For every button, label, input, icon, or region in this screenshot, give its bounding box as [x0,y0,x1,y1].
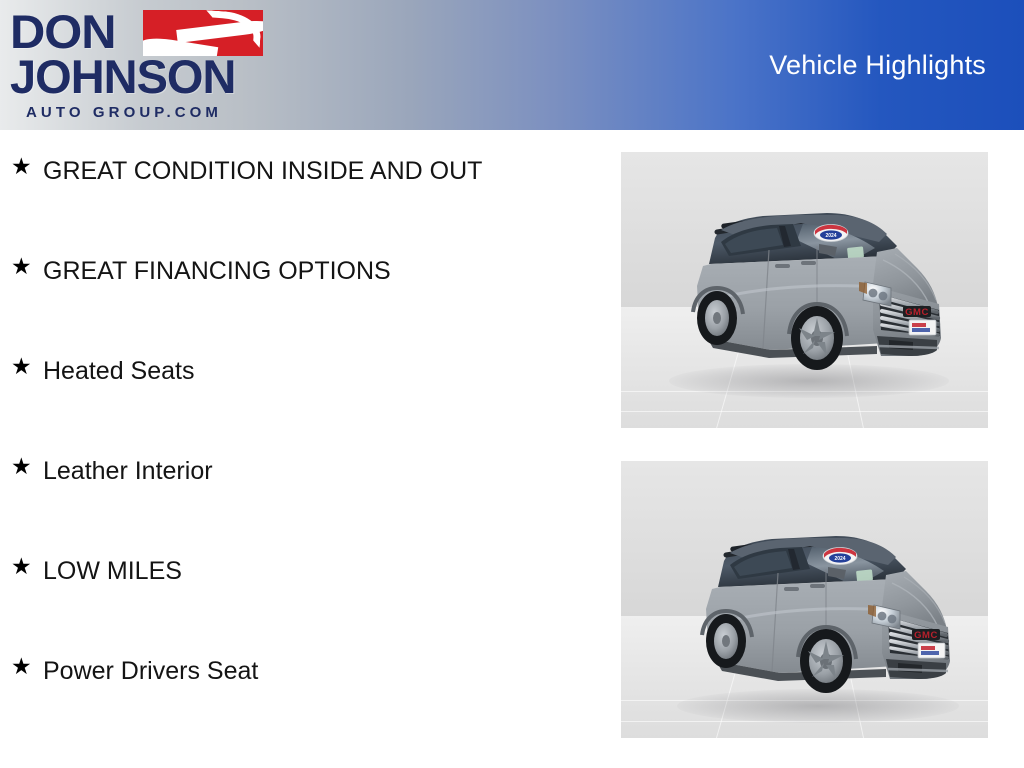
rear-wheel [706,614,746,668]
star-icon: ★ [11,452,43,482]
swoosh-icon-stroke-b [204,10,262,48]
vehicle-illustration: 2024 GMC [651,190,961,390]
svg-text:2024: 2024 [825,233,836,239]
svg-text:GMC: GMC [905,307,929,318]
page-title: Vehicle Highlights [769,50,986,81]
list-item: ★ GREAT FINANCING OPTIONS [0,252,600,352]
floor-seam [621,411,988,412]
list-item: ★ Heated Seats [0,352,600,452]
page-header: DON JOHNSON AUTO GROUP.COM Vehicle Highl… [0,0,1024,130]
svg-text:2024: 2024 [834,556,845,562]
dealer-plate [909,320,936,335]
front-wheel [791,306,843,370]
dealer-logo[interactable]: DON JOHNSON AUTO GROUP.COM [10,4,258,128]
star-icon: ★ [11,652,43,682]
star-icon: ★ [11,352,43,382]
star-icon: ★ [11,152,43,182]
logo-tagline: AUTO GROUP.COM [26,104,222,121]
highlight-label: GREAT CONDITION INSIDE AND OUT [43,152,513,190]
vehicle-illustration: 2024 GMC [659,513,971,713]
logo-text-line-2: JOHNSON [10,53,235,100]
list-item: ★ GREAT CONDITION INSIDE AND OUT [0,152,600,252]
front-wheel [800,629,852,693]
dealer-oval-sticker: 2024 [823,548,857,565]
logo-text-line-1: DON [10,8,116,55]
svg-text:GMC: GMC [914,630,938,641]
highlight-label: Heated Seats [43,352,513,390]
star-icon: ★ [11,252,43,282]
highlight-label: Power Drivers Seat [43,652,513,690]
vehicle-photo-front-three-quarter-1[interactable]: 2024 GMC [621,152,988,428]
list-item: ★ Leather Interior [0,452,600,552]
highlight-label: GREAT FINANCING OPTIONS [43,252,513,290]
dealer-plate [918,643,945,658]
highlight-label: LOW MILES [43,552,513,590]
rear-wheel [697,291,737,345]
vehicle-highlights-page: DON JOHNSON AUTO GROUP.COM Vehicle Highl… [0,0,1024,768]
highlights-list: ★ GREAT CONDITION INSIDE AND OUT ★ GREAT… [0,152,600,752]
vehicle-photo-front-three-quarter-2[interactable]: 2024 GMC [621,461,988,738]
list-item: ★ LOW MILES [0,552,600,652]
star-icon: ★ [11,552,43,582]
dealer-oval-sticker: 2024 [814,225,848,242]
highlight-label: Leather Interior [43,452,513,490]
list-item: ★ Power Drivers Seat [0,652,600,752]
